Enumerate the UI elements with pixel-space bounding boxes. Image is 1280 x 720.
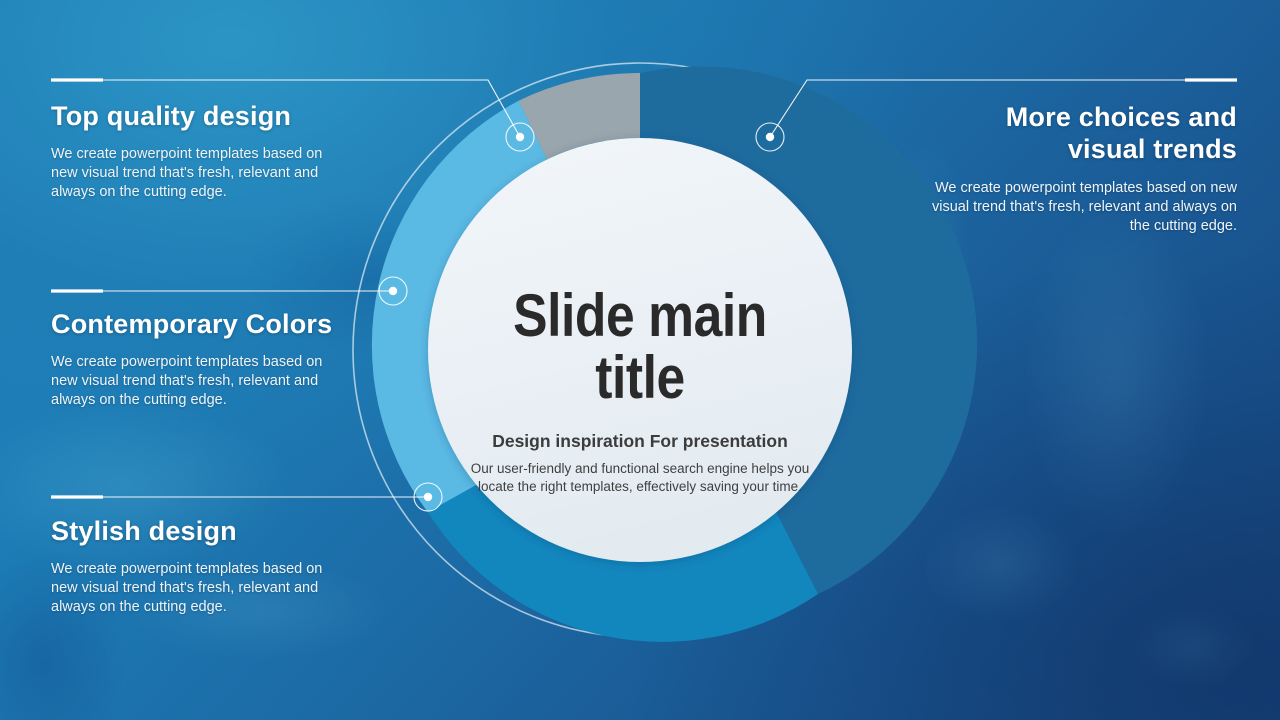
item-stylish-design: Stylish design We create powerpoint temp… (51, 515, 351, 617)
item-more-choices-and-visual-trends: More choices and visual trends We create… (917, 101, 1237, 236)
item-top-quality-design: Top quality design We create powerpoint … (51, 100, 351, 202)
item-contemporary-colors: Contemporary Colors We create powerpoint… (51, 308, 351, 410)
item-title-stylish-design: Stylish design (51, 515, 351, 547)
center-text-block: Slide main title Design inspiration For … (455, 285, 825, 496)
slide-canvas: Slide main title Design inspiration For … (0, 0, 1280, 720)
center-subtitle: Design inspiration For presentation (455, 431, 825, 451)
item-body-stylish-design: We create powerpoint templates based on … (51, 560, 351, 617)
item-title-contemporary-colors: Contemporary Colors (51, 308, 351, 340)
page-title: Slide main title (481, 285, 799, 409)
item-title-top-quality-design: Top quality design (51, 100, 351, 132)
center-body-text: Our user-friendly and functional search … (455, 460, 825, 496)
item-body-top-quality-design: We create powerpoint templates based on … (51, 145, 351, 202)
item-title-more-choices-line2: visual trends (917, 133, 1237, 165)
item-body-contemporary-colors: We create powerpoint templates based on … (51, 353, 351, 410)
item-body-more-choices: We create powerpoint templates based on … (917, 179, 1237, 236)
item-title-more-choices-line1: More choices and (917, 101, 1237, 133)
